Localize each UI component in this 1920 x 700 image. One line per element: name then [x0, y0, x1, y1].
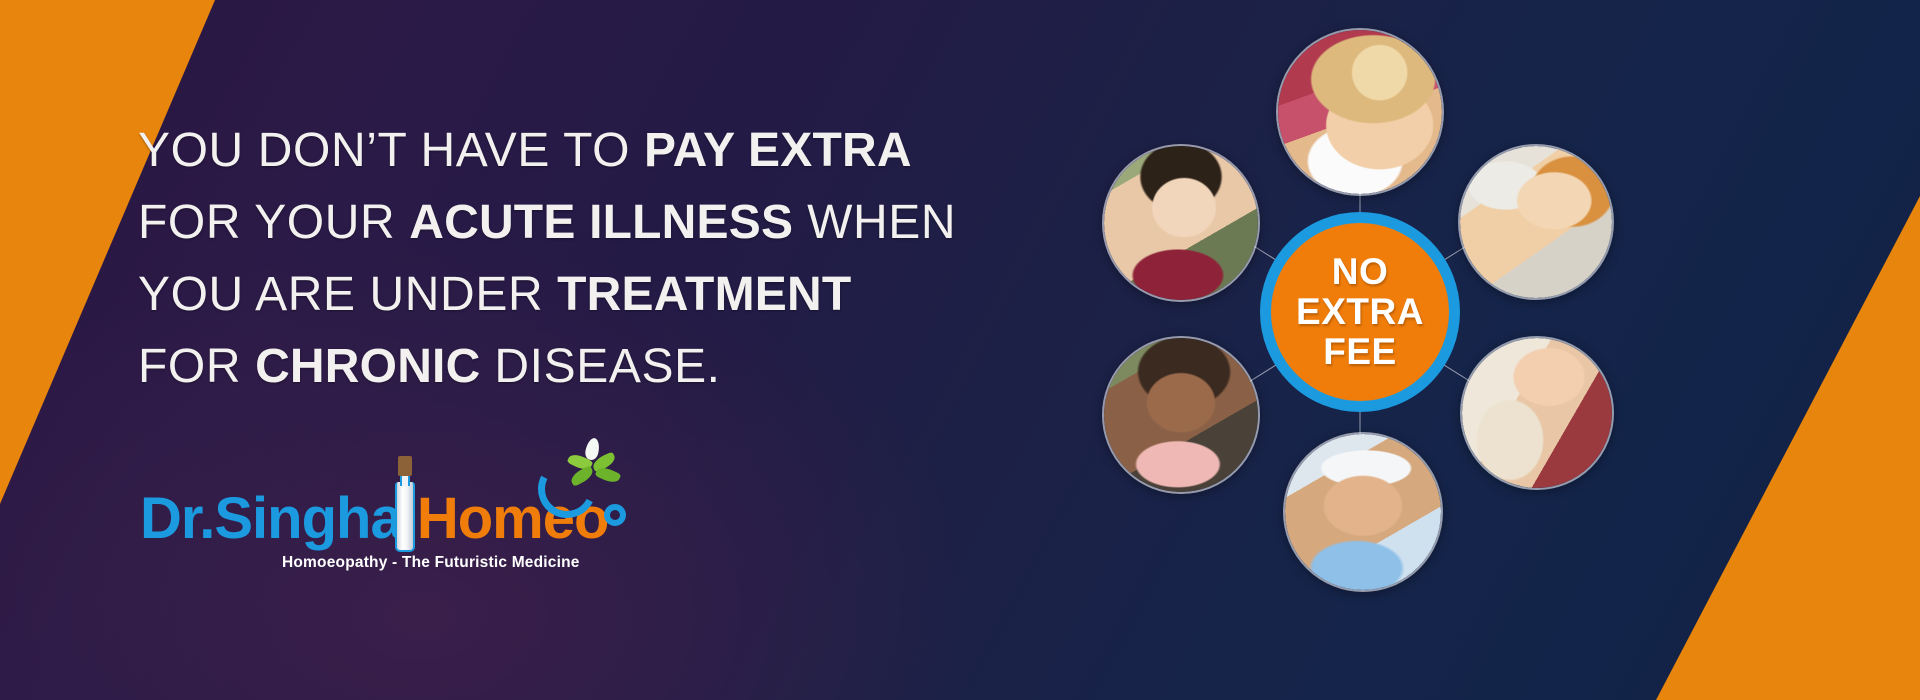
photo-boy-sneezing-image: [1278, 30, 1442, 194]
photo-wrist-injury[interactable]: [1460, 336, 1614, 490]
photo-girl-thermometer[interactable]: [1458, 144, 1614, 300]
headline-line-3-part-2: TREATMENT: [557, 268, 851, 321]
photo-girl-thermometer-image: [1460, 146, 1612, 298]
photo-woman-headache-image: [1104, 338, 1258, 492]
headline-line-2-part-1: FOR YOUR: [138, 196, 409, 249]
headline-line-1: YOU DON’T HAVE TO PAY EXTRA: [138, 115, 958, 187]
headline-line-3-part-1: YOU ARE UNDER: [138, 268, 557, 321]
photo-woman-toothache[interactable]: [1102, 144, 1260, 302]
headline-line-1-part-1: YOU DON’T HAVE TO: [138, 124, 644, 177]
medicine-vial-icon: [392, 456, 418, 552]
stethoscope-icon: [538, 438, 624, 530]
logo-wordmark: Dr.SinghalHomeo: [140, 490, 610, 552]
photo-cluster: NO EXTRA FEE: [1070, 22, 1650, 642]
headline-line-3: YOU ARE UNDER TREATMENT: [138, 259, 958, 331]
no-extra-fee-badge[interactable]: NO EXTRA FEE: [1260, 212, 1460, 412]
headline-line-2-part-3: WHEN: [793, 196, 956, 249]
headline-line-2-part-2: ACUTE ILLNESS: [409, 196, 793, 249]
photo-man-fever-image: [1285, 434, 1441, 590]
brand-logo[interactable]: Dr.SinghalHomeo Homoeopathy - The Futuri…: [140, 490, 610, 610]
headline-line-4-part-2: CHRONIC: [255, 340, 480, 393]
photo-woman-toothache-image: [1104, 146, 1258, 300]
photo-wrist-injury-image: [1462, 338, 1612, 488]
badge-line-3: FEE: [1323, 332, 1396, 372]
logo-text-dr-singhal: Dr.Singhal: [140, 486, 417, 551]
promo-banner: YOU DON’T HAVE TO PAY EXTRA FOR YOUR ACU…: [0, 0, 1920, 700]
headline-line-4-part-1: FOR: [138, 340, 255, 393]
badge-line-1: NO: [1332, 252, 1389, 292]
photo-boy-sneezing[interactable]: [1276, 28, 1444, 196]
logo-tagline: Homoeopathy - The Futuristic Medicine: [282, 554, 580, 572]
headline: YOU DON’T HAVE TO PAY EXTRA FOR YOUR ACU…: [138, 115, 958, 403]
headline-line-4: FOR CHRONIC DISEASE.: [138, 331, 958, 403]
badge-line-2: EXTRA: [1296, 292, 1424, 332]
headline-line-2: FOR YOUR ACUTE ILLNESS WHEN: [138, 187, 958, 259]
photo-woman-headache[interactable]: [1102, 336, 1260, 494]
headline-line-4-part-3: DISEASE.: [480, 340, 720, 393]
photo-man-fever[interactable]: [1283, 432, 1443, 592]
headline-line-1-part-2: PAY EXTRA: [644, 124, 912, 177]
